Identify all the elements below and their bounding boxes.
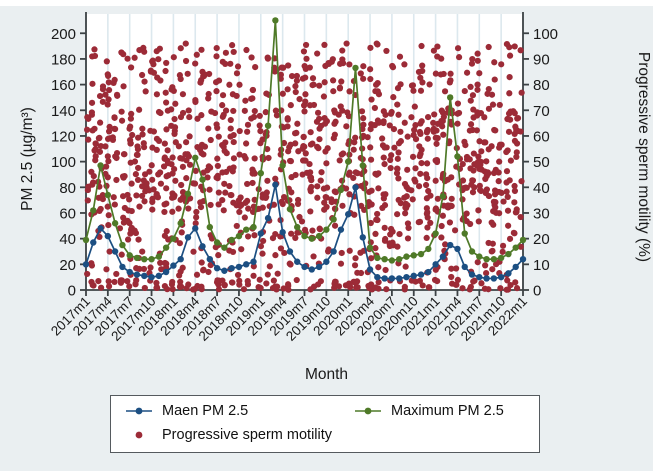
- svg-text:120: 120: [51, 128, 76, 145]
- svg-text:20: 20: [533, 231, 550, 248]
- svg-text:140: 140: [51, 103, 76, 120]
- svg-text:40: 40: [59, 231, 76, 248]
- svg-text:10: 10: [533, 257, 550, 274]
- legend-marker-dot-red-icon: [124, 427, 154, 443]
- svg-text:50: 50: [533, 154, 550, 171]
- chart-figure: 0204060801001201401601802000102030405060…: [0, 0, 653, 474]
- svg-text:0: 0: [533, 283, 541, 300]
- svg-text:160: 160: [51, 77, 76, 94]
- svg-text:70: 70: [533, 103, 550, 120]
- svg-text:90: 90: [533, 51, 550, 68]
- legend-label-mean-pm25: Maen PM 2.5: [162, 403, 248, 419]
- svg-text:180: 180: [51, 51, 76, 68]
- svg-text:60: 60: [533, 128, 550, 145]
- legend-item-mean-pm25: Maen PM 2.5: [124, 403, 248, 419]
- svg-text:80: 80: [533, 77, 550, 94]
- svg-text:20: 20: [59, 257, 76, 274]
- legend-item-progressive-sperm-motility: Progressive sperm motility: [124, 427, 332, 443]
- legend-label-progressive-sperm-motility: Progressive sperm motility: [162, 427, 332, 443]
- y-axis-left-title: PM 2.5 (µg/m³): [19, 59, 37, 259]
- svg-text:200: 200: [51, 26, 76, 43]
- svg-text:0: 0: [68, 283, 76, 300]
- svg-text:40: 40: [533, 180, 550, 197]
- svg-text:100: 100: [51, 154, 76, 171]
- legend-label-maximum-pm25: Maximum PM 2.5: [391, 403, 504, 419]
- svg-text:80: 80: [59, 180, 76, 197]
- legend-marker-line-blue-icon: [124, 403, 154, 419]
- legend-item-maximum-pm25: Maximum PM 2.5: [353, 403, 504, 419]
- x-axis-title: Month: [0, 366, 653, 384]
- legend-marker-line-green-icon: [353, 403, 383, 419]
- svg-text:60: 60: [59, 205, 76, 222]
- y-axis-right-title: Progressive sperm motility (%): [634, 42, 652, 272]
- svg-text:30: 30: [533, 205, 550, 222]
- chart-legend: Maen PM 2.5 Maximum PM 2.5 Progressive s…: [110, 395, 540, 453]
- svg-text:100: 100: [533, 26, 558, 43]
